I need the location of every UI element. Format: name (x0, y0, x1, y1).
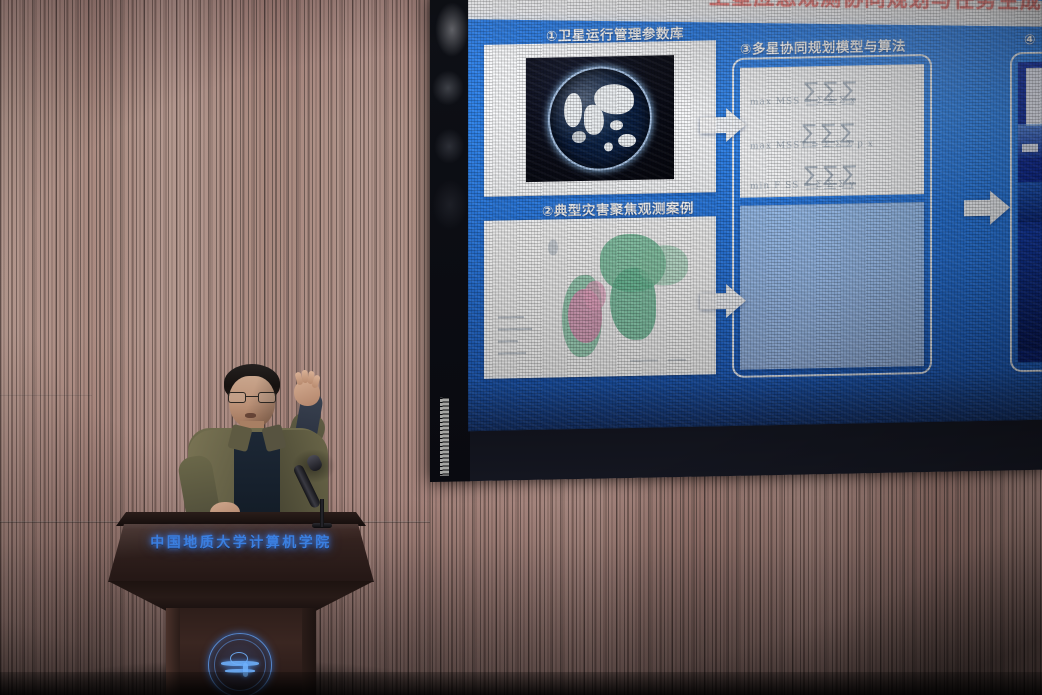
glasses-left-lens (228, 392, 246, 403)
gooseneck-microphone (306, 455, 366, 525)
glasses-right-lens (258, 392, 276, 403)
glasses-bridge (246, 396, 258, 397)
microphone-stem (320, 499, 324, 527)
podium-bevel (108, 581, 374, 611)
auditorium-scene: 卫星应急观测协同规划与任务生成 ①卫星运行管理参数库 (0, 0, 1042, 695)
podium-institution-text: 中国地质大学计算机学院 (108, 532, 374, 552)
lectern-podium: 中国地质大学计算机学院 (108, 512, 374, 695)
speaker-glasses (228, 392, 276, 403)
speaker-mouth (245, 413, 256, 418)
speaker-right-hand (294, 380, 320, 406)
bottom-shadow-band (0, 672, 1042, 695)
